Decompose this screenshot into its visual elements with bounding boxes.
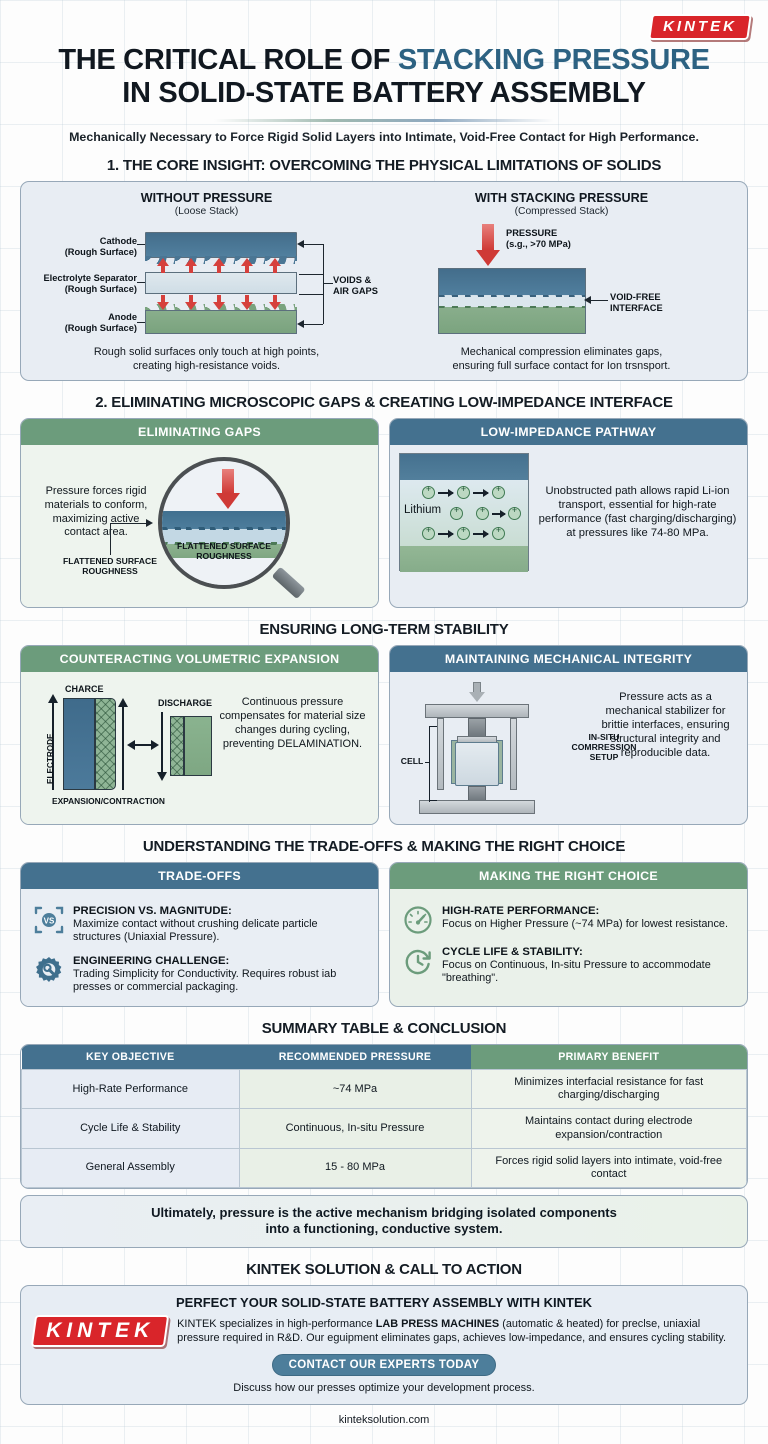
gap-arrow-down	[161, 295, 165, 303]
press-cell-body	[455, 742, 499, 786]
low-impedance-body: Lithium	[390, 445, 747, 580]
eliminating-gaps-diagram: Pressure forces rigid materials to confo…	[30, 453, 369, 598]
void-free-callout: VOID-FREEINTERFACE	[610, 292, 688, 314]
list-item: VS PRECISION VS. MAGNITUDE: Maximize con…	[30, 897, 369, 947]
volumetric-expansion-text: Continuous pressure compensates for mate…	[218, 696, 367, 752]
gauge-icon	[402, 904, 434, 936]
low-impedance-text: Unobstructed path allows rapid Li-ion tr…	[537, 484, 738, 540]
section-1-heading: 1. THE CORE INSIGHT: OVERCOMING THE PHYS…	[0, 157, 768, 174]
table-row: Cycle Life & Stability Continuous, In-si…	[22, 1109, 747, 1148]
compressed-stack-box	[438, 268, 586, 334]
magnifier-lens	[158, 457, 290, 589]
list-item-body: Focus on Higher Pressure (~74 MPa) for l…	[442, 918, 728, 930]
mechanical-integrity-header: MAINTAINING MECHANICAL INTEGRITY	[390, 646, 747, 672]
kintek-logo: KINTEK	[31, 1315, 170, 1347]
table-cell-benefit: Forces rigid solid layers into intimate,…	[471, 1148, 747, 1187]
list-item: ENGINEERING CHALLENGE: Trading Simplicit…	[30, 947, 369, 997]
trade-offs-body: VS PRECISION VS. MAGNITUDE: Maximize con…	[21, 889, 378, 1006]
cta-body-text: KINTEK specializes in high-performance L…	[177, 1317, 735, 1345]
pressure-arrow-icon	[476, 224, 500, 266]
label-leader	[137, 244, 145, 245]
mechanical-integrity-card: MAINTAINING MECHANICAL INTEGRITY	[389, 645, 748, 825]
cycle-clock-icon	[402, 945, 434, 977]
voids-leader-mid2	[299, 294, 323, 295]
y-axis-arrowhead	[48, 694, 58, 703]
list-item-text: PRECISION VS. MAGNITUDE: Maximize contac…	[73, 904, 366, 945]
section-2-heading: 2. ELIMINATING MICROSCOPIC GAPS & CREATI…	[0, 394, 768, 411]
list-item-title: HIGH-RATE PERFORMANCE:	[442, 904, 735, 918]
discharge-label: DISCHARGE	[158, 698, 212, 708]
ion-arrow	[492, 513, 505, 515]
table-cell-pressure: ~74 MPa	[239, 1069, 471, 1108]
gap-arrow-down	[245, 295, 249, 303]
list-item-title: PRECISION VS. MAGNITUDE:	[73, 904, 366, 918]
press-bottom-plate	[419, 800, 535, 814]
volumetric-expansion-body: ELECTRODE CHARCE DISCHARGE	[21, 672, 378, 824]
press-force-arrow-icon	[469, 682, 485, 702]
cta-body-a: KINTEK specializes in high-performance	[177, 1318, 376, 1330]
trade-offs-card: TRADE-OFFS VS PRECISION VS. MAGNITUDE	[20, 862, 379, 1007]
charge-expand-axis	[122, 706, 124, 790]
ion-arrow	[473, 492, 488, 494]
core-insight-panels: WITHOUT PRESSURE (Loose Stack)	[21, 182, 747, 380]
cathode-label: Cathode(Rough Surface)	[33, 236, 137, 258]
lithium-ion	[492, 527, 505, 540]
anode-layer	[145, 310, 297, 334]
voidfree-arrow	[584, 296, 591, 304]
ion-arrow	[473, 533, 488, 535]
table-row: General Assembly 15 - 80 MPa Forces rigi…	[22, 1148, 747, 1187]
cycle-arrow-right	[151, 740, 159, 750]
gap-arrow-down	[217, 295, 221, 303]
cta-heading: KINTEK SOLUTION & CALL TO ACTION	[0, 1261, 768, 1278]
table-row: High-Rate Performance ~74 MPa Minimizes …	[22, 1069, 747, 1108]
svg-text:VS: VS	[44, 917, 55, 926]
voids-arrow-bottom	[297, 320, 304, 328]
voids-leader-v	[323, 244, 324, 324]
column-header: PRIMARY BENEFIT	[471, 1045, 747, 1070]
kintek-logo: KINTEK	[648, 14, 751, 40]
cycle-arrow-left	[127, 740, 135, 750]
list-item-title: CYCLE LIFE & STABILITY:	[442, 945, 735, 959]
gap-arrow-down	[189, 295, 193, 303]
expansion-diagram: ELECTRODE CHARCE DISCHARGE	[30, 680, 215, 815]
section-3-heading: ENSURING LONG-TERM STABILITY	[0, 621, 768, 638]
website-url: kinteksolution.com	[0, 1414, 768, 1426]
lithium-ion	[492, 486, 505, 499]
cathode-layer	[145, 232, 297, 258]
summary-table-card: KEY OBJECTIVE RECOMMENDED PRESSURE PRIMA…	[20, 1044, 748, 1189]
cta-card: PERFECT YOUR SOLID-STATE BATTERY ASSEMBL…	[20, 1285, 748, 1405]
voids-arrow-top	[297, 240, 304, 248]
cta-body-highlight: LAB PRESS MACHINES	[376, 1318, 499, 1330]
list-item-text: ENGINEERING CHALLENGE: Trading Simplicit…	[73, 954, 366, 995]
ion-arrow	[438, 492, 453, 494]
y-axis-label: ELECTRODE	[46, 733, 55, 784]
pointer-arrow	[146, 519, 153, 527]
title-line1-plain: THE CRITICAL ROLE OF	[58, 44, 398, 76]
mechanical-integrity-body: CELL IN-SITU COMRRESSION SETUP Pressure …	[390, 672, 747, 824]
press-top-plate	[425, 704, 529, 718]
press-top-ram	[468, 718, 486, 738]
table-cell-benefit: Minimizes interfacial resistance for fas…	[471, 1069, 747, 1108]
list-item-title: ENGINEERING CHALLENGE:	[73, 954, 366, 968]
without-pressure-panel: WITHOUT PRESSURE (Loose Stack)	[29, 191, 384, 373]
cycle-double-arrow	[133, 744, 153, 746]
cell-label-leader	[425, 762, 430, 763]
contact-experts-button[interactable]: CONTACT OUR EXPERTS TODAY	[272, 1354, 497, 1376]
lithium-ion	[457, 486, 470, 499]
eliminating-gaps-body: Pressure forces rigid materials to confo…	[21, 445, 378, 607]
voids-stub	[323, 283, 333, 284]
table-cell-benefit: Maintains contact during electrode expan…	[471, 1109, 747, 1148]
gap-arrow-up	[273, 265, 277, 273]
press-setup-diagram: CELL	[407, 682, 567, 812]
cta-title: PERFECT YOUR SOLID-STATE BATTERY ASSEMBL…	[33, 1295, 735, 1310]
x-axis-label: EXPANSION/CONTRACTION	[52, 796, 165, 806]
table-cell-pressure: Continuous, In-situ Pressure	[239, 1109, 471, 1148]
lithium-label: Lithium	[404, 504, 441, 516]
kintek-logo-text: KINTEK	[663, 19, 737, 34]
table-header-row: KEY OBJECTIVE RECOMMENDED PRESSURE PRIMA…	[22, 1045, 747, 1070]
magnifier-pressure-arrow-icon	[216, 469, 240, 509]
gap-arrow-up	[217, 265, 221, 273]
without-pressure-title: WITHOUT PRESSURE	[33, 191, 380, 205]
pointer-leader-v	[110, 523, 111, 555]
section-3-cards: COUNTERACTING VOLUMETRIC EXPANSION ELECT…	[20, 645, 748, 825]
summary-heading: SUMMARY TABLE & CONCLUSION	[0, 1020, 768, 1037]
gap-arrow-down	[273, 295, 277, 303]
lithium-transport-diagram: Lithium	[399, 453, 529, 571]
li-anode-band	[400, 546, 528, 572]
lithium-ion	[476, 507, 489, 520]
volumetric-expansion-card: COUNTERACTING VOLUMETRIC EXPANSION ELECT…	[20, 645, 379, 825]
list-item-body: Focus on Continuous, In-situ Pressure to…	[442, 959, 711, 985]
pointer-leader-h	[110, 523, 146, 524]
magnifier-base	[162, 558, 286, 589]
eliminating-gaps-text: Pressure forces rigid materials to confo…	[34, 485, 158, 540]
table-cell-objective: General Assembly	[22, 1148, 240, 1187]
conclusion-line-1: Ultimately, pressure is the active mecha…	[151, 1205, 617, 1220]
charge-expand-arrowhead	[118, 698, 128, 707]
section-2-cards: ELIMINATING GAPS Pressure forces rigid m…	[20, 418, 748, 608]
mechanical-integrity-text: Pressure acts as a mechanical stabilizer…	[595, 690, 736, 761]
volumetric-expansion-header: COUNTERACTING VOLUMETRIC EXPANSION	[21, 646, 378, 672]
page-subtitle: Mechanically Necessary to Force Rigid So…	[18, 130, 750, 144]
list-item: CYCLE LIFE & STABILITY: Focus on Continu…	[399, 938, 738, 988]
cta-logo-wrap: KINTEK	[33, 1315, 167, 1347]
discharge-electrode-bar	[184, 716, 212, 776]
with-pressure-caption: Mechanical compression eliminates gaps,e…	[388, 346, 735, 373]
with-pressure-subtitle: (Compressed Stack)	[388, 206, 735, 217]
cell-bracket-bottom	[429, 800, 437, 801]
voids-leader-mid	[299, 274, 323, 275]
press-post-left	[437, 718, 444, 790]
discharge-axis	[161, 712, 163, 774]
right-choice-body: HIGH-RATE PERFORMANCE: Focus on Higher P…	[390, 889, 747, 997]
list-item-text: CYCLE LIFE & STABILITY: Focus on Continu…	[442, 945, 735, 986]
gap-arrow-up	[245, 265, 249, 273]
discharge-arrowhead	[157, 772, 167, 781]
lithium-ion	[422, 486, 435, 499]
label-leader	[137, 322, 145, 323]
title-divider	[214, 119, 554, 122]
low-impedance-header: LOW-IMPEDANCE PATHWAY	[390, 419, 747, 445]
cell-bracket-top	[429, 726, 437, 727]
loose-stack-diagram: Cathode(Rough Surface) Electrolyte Separ…	[33, 222, 380, 340]
without-pressure-subtitle: (Loose Stack)	[33, 206, 380, 217]
list-item: HIGH-RATE PERFORMANCE: Focus on Higher P…	[399, 897, 738, 938]
voids-callout: VOIDS &AIR GAPS	[333, 275, 393, 297]
trade-offs-header: TRADE-OFFS	[21, 863, 378, 889]
compressed-stack-diagram: PRESSURE(s.g., >70 MPa) VOID-FREEINTERFA…	[388, 222, 735, 340]
cell-bracket	[429, 726, 430, 802]
with-pressure-title: WITH STACKING PRESSURE	[388, 191, 735, 205]
ion-arrow	[438, 533, 453, 535]
list-item-body: Trading Simplicity for Conductivity. Req…	[73, 968, 336, 994]
charge-electrode-bar	[63, 698, 95, 790]
summary-table: KEY OBJECTIVE RECOMMENDED PRESSURE PRIMA…	[21, 1045, 747, 1188]
eliminating-gaps-header: ELIMINATING GAPS	[21, 419, 378, 445]
flattened-roughness-pointer-label: FLATTENED SURFACE ROUGHNESS	[62, 557, 158, 577]
list-item-text: HIGH-RATE PERFORMANCE: Focus on Higher P…	[442, 904, 735, 932]
column-header: KEY OBJECTIVE	[22, 1045, 240, 1070]
versus-icon: VS	[33, 904, 65, 936]
lithium-ion	[508, 507, 521, 520]
magnifier-interface-rough	[162, 527, 286, 530]
title-line2: IN SOLID-STATE BATTERY ASSEMBLY	[122, 77, 645, 109]
separator-label: Electrolyte Separator(Rough Surface)	[29, 273, 137, 295]
without-pressure-caption: Rough solid surfaces only touch at high …	[33, 346, 380, 373]
column-header: RECOMMENDED PRESSURE	[239, 1045, 471, 1070]
with-pressure-panel: WITH STACKING PRESSURE (Compressed Stack…	[384, 191, 739, 373]
lithium-ion	[457, 527, 470, 540]
discharge-contraction-bar	[170, 716, 184, 776]
cta-note: Discuss how our presses optimize your de…	[33, 1382, 735, 1394]
kintek-logo-text: KINTEK	[46, 1320, 154, 1341]
section-4-heading: UNDERSTANDING THE TRADE-OFFS & MAKING TH…	[0, 838, 768, 855]
gap-arrow-up	[161, 265, 165, 273]
anode-label: Anode(Rough Surface)	[33, 312, 137, 334]
charge-label: CHARCE	[65, 684, 104, 694]
lithium-ion	[422, 527, 435, 540]
press-post-right	[510, 718, 517, 790]
infographic-page: KINTEK THE CRITICAL ROLE OF STACKING PRE…	[0, 0, 768, 1444]
li-cathode-band	[400, 454, 528, 480]
label-leader	[137, 282, 145, 283]
cell-label: CELL	[397, 756, 427, 766]
gear-wrench-icon	[33, 954, 65, 986]
right-choice-card: MAKING THE RIGHT CHOICE	[389, 862, 748, 1007]
section-4-cards: TRADE-OFFS VS PRECISION VS. MAGNITUDE	[20, 862, 748, 1007]
conclusion-banner: Ultimately, pressure is the active mecha…	[20, 1195, 748, 1248]
eliminating-gaps-card: ELIMINATING GAPS Pressure forces rigid m…	[20, 418, 379, 608]
page-title: THE CRITICAL ROLE OF STACKING PRESSURE I…	[18, 44, 750, 110]
separator-layer	[145, 272, 297, 294]
list-item-body: Maximize contact without crushing delica…	[73, 918, 318, 944]
low-impedance-card: LOW-IMPEDANCE PATHWAY Lithium	[389, 418, 748, 608]
magnifier-caption: FLATTENED SURFACE ROUGHNESS	[176, 541, 272, 562]
charge-expansion-bar	[95, 698, 116, 790]
right-choice-header: MAKING THE RIGHT CHOICE	[390, 863, 747, 889]
section-1-card: WITHOUT PRESSURE (Loose Stack)	[20, 181, 748, 381]
lithium-ion	[450, 507, 463, 520]
gap-arrow-up	[189, 265, 193, 273]
table-cell-objective: Cycle Life & Stability	[22, 1109, 240, 1148]
table-cell-objective: High-Rate Performance	[22, 1069, 240, 1108]
title-line1-accent: STACKING PRESSURE	[398, 44, 710, 76]
table-cell-pressure: 15 - 80 MPa	[239, 1148, 471, 1187]
cta-content-row: KINTEK KINTEK specializes in high-perfor…	[33, 1315, 735, 1347]
pressure-callout: PRESSURE(s.g., >70 MPa)	[506, 228, 616, 250]
conclusion-line-2: into a functioning, conductive system.	[266, 1221, 503, 1236]
